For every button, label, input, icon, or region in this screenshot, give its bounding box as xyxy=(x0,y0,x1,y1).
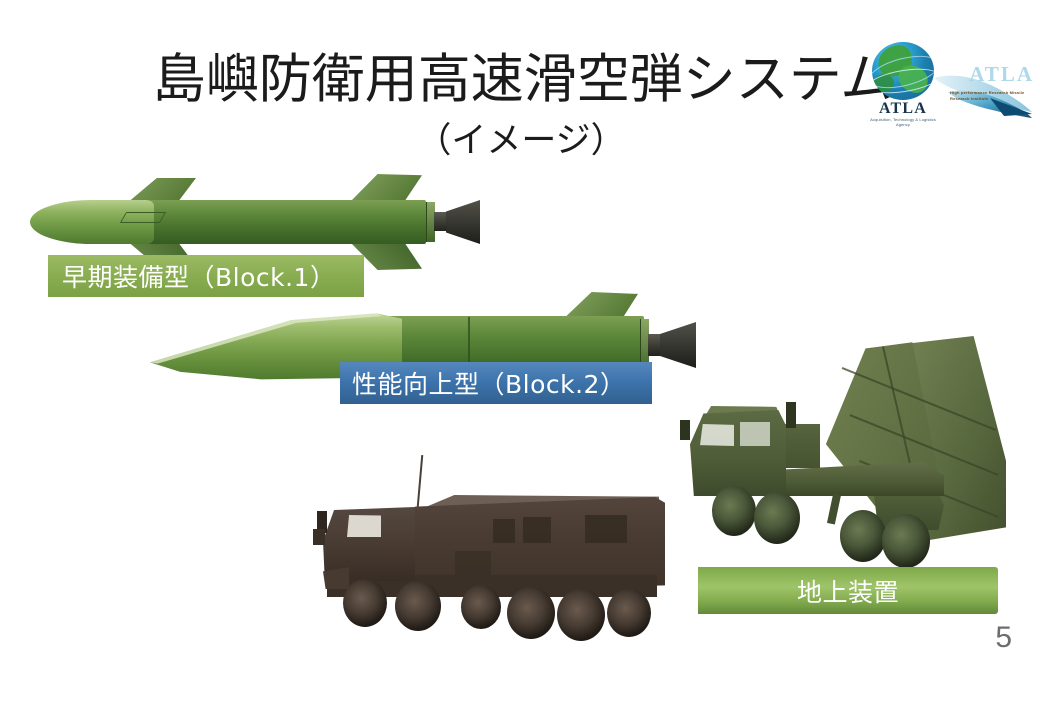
command-access-hatch xyxy=(455,551,491,577)
command-mirror xyxy=(313,529,325,545)
command-window xyxy=(493,519,515,543)
missile-nozzle-neck xyxy=(648,334,662,356)
hypersonic-glide-vehicle-icon xyxy=(930,48,1034,126)
vehicle-wheel xyxy=(343,579,387,627)
globe-icon xyxy=(872,42,934,100)
vehicle-wheel xyxy=(840,510,886,562)
hypersonic-vehicle-logo: ATLA High performance Research Missile R… xyxy=(930,48,1034,126)
exhaust-stack-icon xyxy=(786,402,796,428)
launcher-cab xyxy=(690,410,786,496)
launcher-windshield xyxy=(700,424,734,446)
label-block1: 早期装備型（Block.1） xyxy=(48,255,364,297)
label-ground-equipment: 地上装置 xyxy=(698,567,998,614)
missile-vent-marking xyxy=(120,212,166,223)
command-vehicle-graphic xyxy=(295,455,665,645)
missile-block1-graphic xyxy=(30,178,480,264)
logo-area: ATLA Acquisition, Technology & Logistics… xyxy=(860,42,1032,134)
vehicle-wheel xyxy=(607,589,651,637)
missile-body xyxy=(148,200,426,244)
command-window xyxy=(523,517,551,543)
missile-nozzle-neck xyxy=(434,212,448,231)
hgv-wordmark: ATLA xyxy=(969,62,1034,87)
slide-root: 島嶼防衛用高速滑空弾システム （イメージ） ATLA Acquisition, … xyxy=(0,0,1040,701)
vehicle-wheel xyxy=(461,585,501,629)
label-ground-equipment-text: 地上装置 xyxy=(797,573,899,609)
vehicle-wheel xyxy=(557,589,605,641)
command-windshield xyxy=(347,515,381,537)
command-window xyxy=(585,515,627,543)
label-block2: 性能向上型（Block.2） xyxy=(340,362,652,404)
label-block1-text: 早期装備型（Block.1） xyxy=(62,258,335,294)
hgv-tagline: High performance Research Missile Resear… xyxy=(950,90,1034,101)
antenna-mast-icon xyxy=(417,455,424,507)
page-number: 5 xyxy=(995,621,1012,655)
vehicle-wheel xyxy=(395,581,441,631)
launcher-stabilizer-jack xyxy=(827,493,841,524)
missile-nozzle-bell xyxy=(446,200,480,244)
vehicle-wheel xyxy=(882,514,930,568)
label-block2-text: 性能向上型（Block.2） xyxy=(352,365,625,401)
vehicle-wheel xyxy=(754,492,800,544)
launcher-vehicle-graphic xyxy=(676,336,1006,576)
vehicle-wheel xyxy=(507,587,555,639)
vehicle-wheel xyxy=(712,486,756,536)
launcher-side-window xyxy=(740,422,770,446)
launcher-mirror xyxy=(680,420,690,440)
